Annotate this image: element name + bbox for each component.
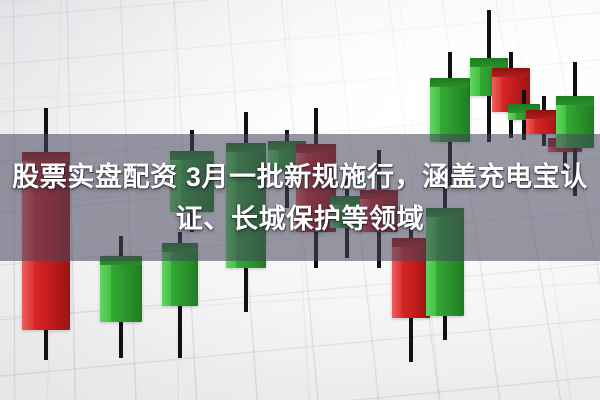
banner-image: 股票实盘配资 3月一批新规施行，涵盖充电宝认 证、长城保护等领域: [0, 0, 600, 400]
headline-line-1: 股票实盘配资 3月一批新规施行，涵盖充电宝认: [0, 156, 600, 198]
headline-line-2: 证、长城保护等领域: [0, 198, 600, 240]
candlestick-body-up: [100, 256, 142, 322]
candlestick-body-up: [430, 78, 470, 142]
